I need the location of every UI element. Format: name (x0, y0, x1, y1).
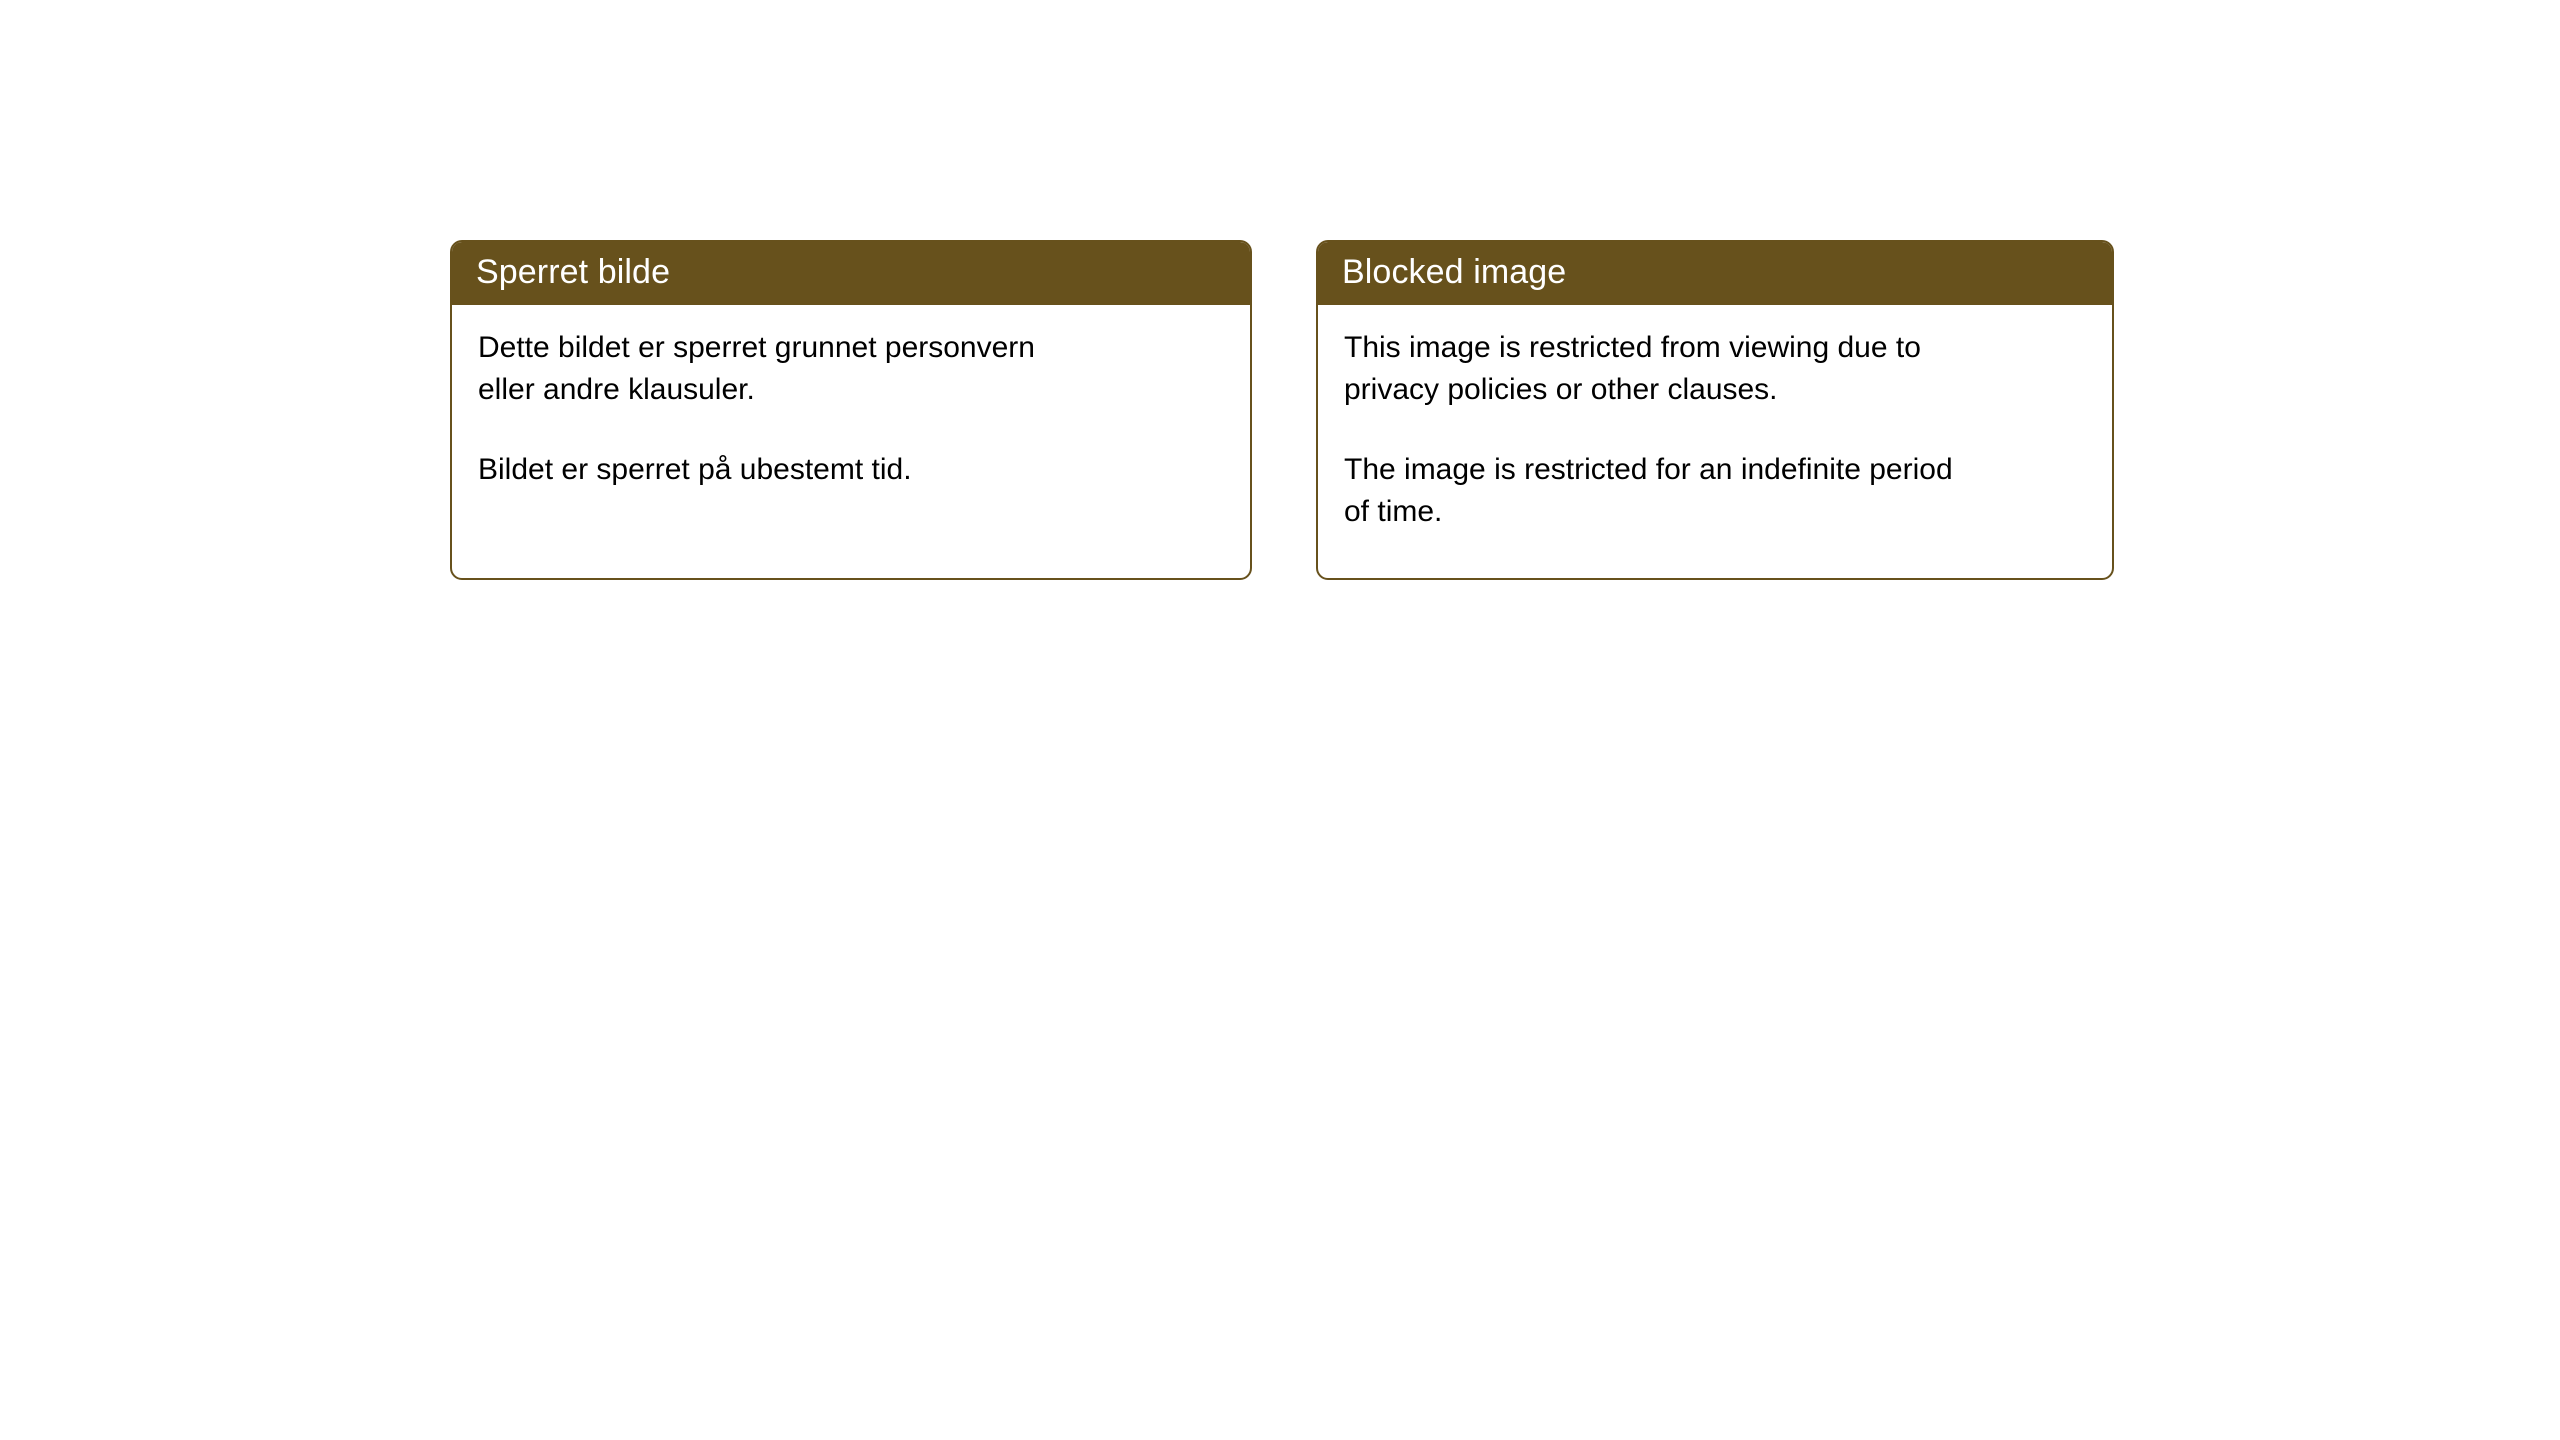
blocked-image-notice-en: Blocked image This image is restricted f… (1316, 240, 2114, 580)
page-canvas: Sperret bilde Dette bildet er sperret gr… (0, 0, 2560, 1440)
panel-paragraph-duration-no: Bildet er sperret på ubestemt tid. (478, 449, 1224, 491)
panel-paragraph-reason-en: This image is restricted from viewing du… (1344, 327, 2086, 411)
blocked-image-notice-no: Sperret bilde Dette bildet er sperret gr… (450, 240, 1252, 580)
panel-paragraph-duration-en: The image is restricted for an indefinit… (1344, 449, 2086, 533)
panel-body-no: Dette bildet er sperret grunnet personve… (452, 305, 1250, 578)
panel-title-no: Sperret bilde (476, 255, 670, 291)
panel-body-en: This image is restricted from viewing du… (1318, 305, 2112, 578)
panel-header-en: Blocked image (1316, 240, 2114, 305)
panel-header-no: Sperret bilde (450, 240, 1252, 305)
panel-paragraph-reason-no: Dette bildet er sperret grunnet personve… (478, 327, 1224, 411)
panel-title-en: Blocked image (1342, 255, 1566, 291)
